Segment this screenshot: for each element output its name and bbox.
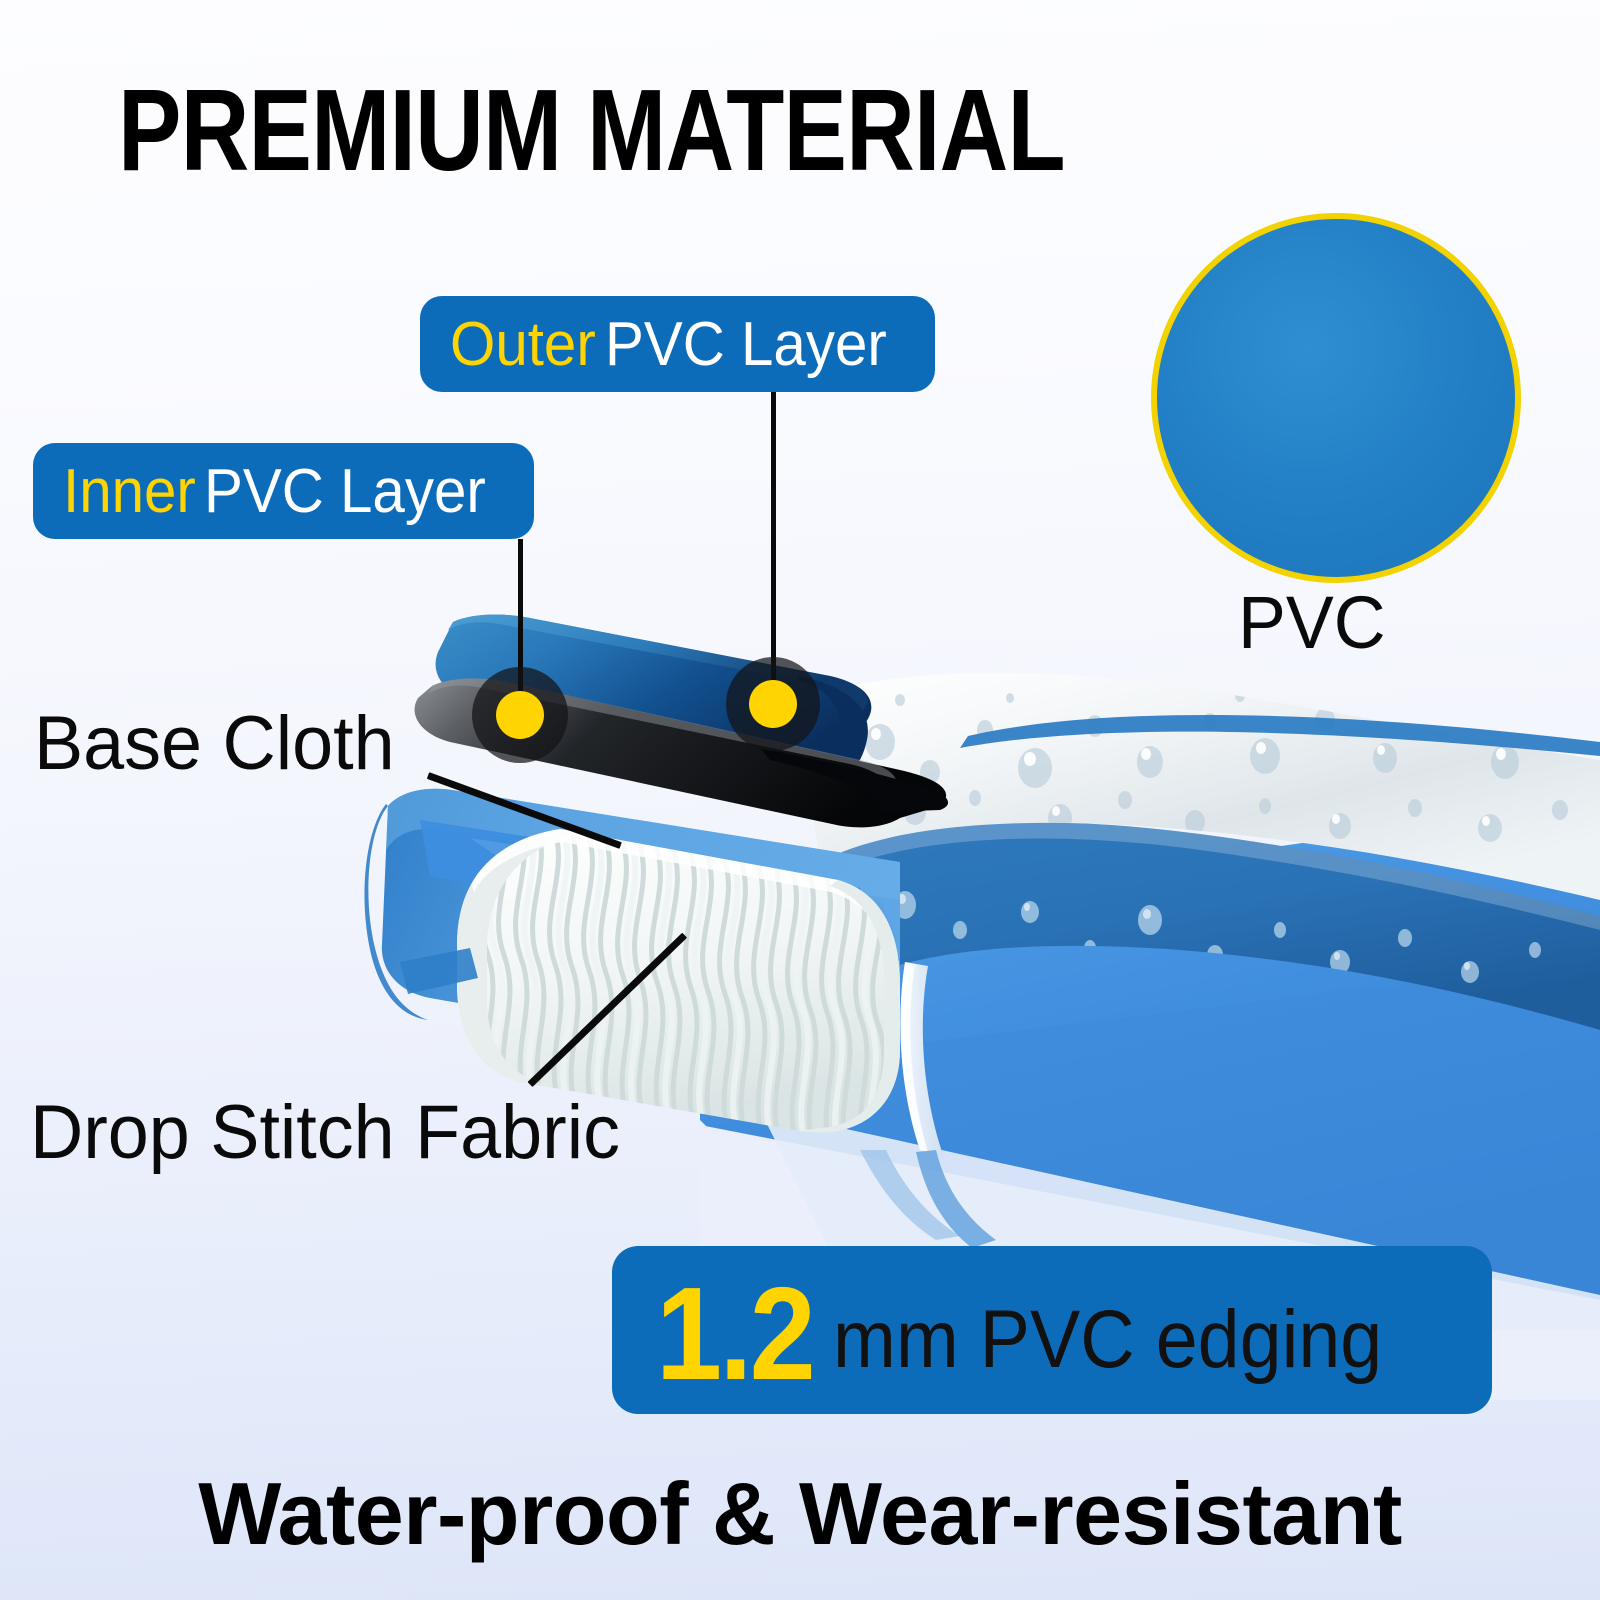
badge-outer-pvc-layer: Outer PVC Layer (420, 296, 935, 392)
callout-dot-inner-layer (496, 691, 544, 739)
badge-inner-rest: PVC Layer (204, 456, 486, 527)
label-base-cloth: Base Cloth (34, 706, 395, 782)
badge-pvc-edging-thickness: 1.2mm PVC edging (612, 1246, 1492, 1414)
page-title: PREMIUM MATERIAL (118, 72, 1065, 188)
label-drop-stitch-fabric: Drop Stitch Fabric (30, 1095, 620, 1171)
badge-inner-highlight: Inner (63, 456, 196, 527)
thickness-unit: mm PVC edging (833, 1299, 1382, 1381)
badge-outer-highlight: Outer (450, 309, 596, 380)
pvc-color-swatch (1151, 213, 1521, 583)
badge-outer-rest: PVC Layer (605, 309, 887, 380)
footer-caption: Water-proof & Wear-resistant (198, 1470, 1402, 1558)
infographic-canvas: PREMIUM MATERIAL PVC Outer PVC Layer Inn… (0, 0, 1600, 1600)
thickness-number: 1.2 (656, 1268, 813, 1400)
callout-dot-outer-layer (749, 680, 797, 728)
pvc-swatch-label: PVC (1238, 586, 1386, 660)
badge-inner-pvc-layer: Inner PVC Layer (33, 443, 534, 539)
